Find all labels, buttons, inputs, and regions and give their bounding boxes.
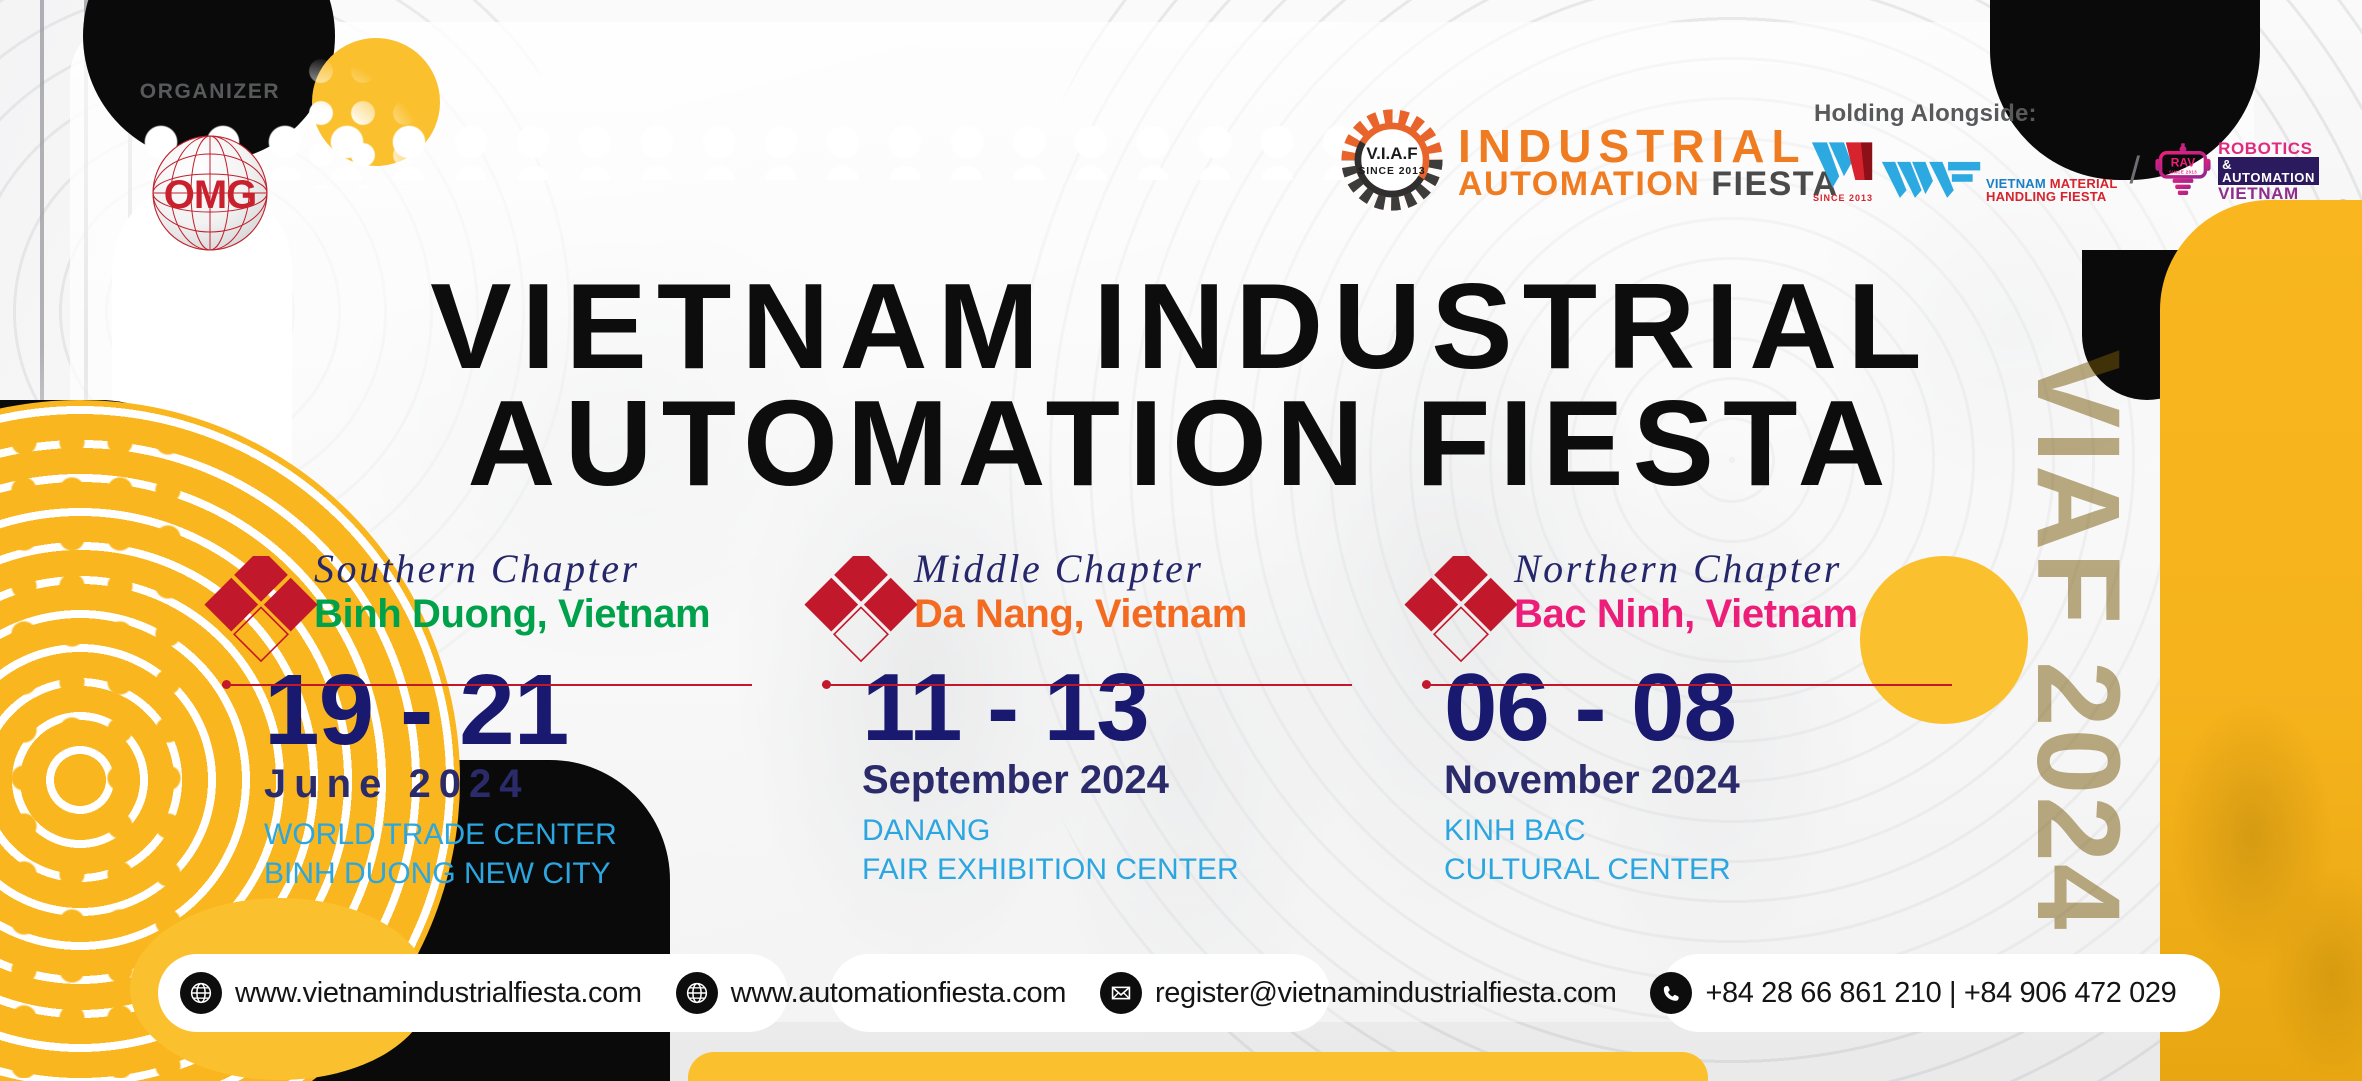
diamond-icon	[802, 556, 920, 674]
chapter-days: 11 - 13	[862, 663, 1390, 753]
chapter-venue-line1: KINH BAC	[1444, 811, 1990, 850]
organizer-block: ORGANIZER	[100, 80, 320, 268]
partner-rav-logo: RAV SINCE 2013 ROBOTICS & AUTOMATION VIE…	[2152, 140, 2319, 202]
mail-icon	[1100, 972, 1142, 1014]
chapter-header: Middle Chapter Da Nang, Vietnam	[790, 548, 1390, 637]
svg-text:SINCE 2013: SINCE 2013	[2169, 169, 2197, 174]
poster-canvas: VIAF 2024 ORGANIZER	[0, 0, 2362, 1081]
chapter-list: Southern Chapter Binh Duong, Vietnam 19 …	[190, 548, 2190, 893]
viaf-word-automation-fiesta: AUTOMATION FIESTA	[1458, 168, 1839, 201]
vmhf-since-label: SINCE 2013	[1810, 193, 1876, 203]
chapter-venue-line2: CULTURAL CENTER	[1444, 850, 1990, 889]
contact-website-1-text: www.vietnamindustrialfiesta.com	[235, 977, 642, 1010]
viaf-logo: V.I.A.F SINCE 2013 INDUSTRIAL AUTOMATION…	[1340, 108, 1839, 217]
chapter-divider-rule	[1422, 684, 1952, 686]
chapter-city: Binh Duong, Vietnam	[314, 592, 790, 637]
organizer-label: ORGANIZER	[100, 80, 320, 104]
contact-website-1[interactable]: www.vietnamindustrialfiesta.com	[180, 972, 642, 1014]
vm-mark-icon: SINCE 2013	[1810, 138, 1876, 203]
holding-alongside-label: Holding Alongside:	[1814, 100, 2170, 128]
svg-text:OMG: OMG	[164, 173, 257, 217]
rav-line1: ROBOTICS	[2218, 140, 2319, 157]
page-title-line1: VIETNAM INDUSTRIAL	[430, 258, 1932, 394]
rav-line3: VIETNAM	[2218, 185, 2319, 202]
gear-badge-line2: SINCE 2013	[1358, 166, 1425, 177]
vmhf-line1: VIETNAM MATERIAL	[1986, 177, 2118, 190]
partner-logos: SINCE 2013 VIETNAM MATERIAL HANDLING FIE…	[1810, 138, 2170, 203]
contact-website-2[interactable]: www.automationfiesta.com	[676, 972, 1066, 1014]
viaf-word-industrial: INDUSTRIAL	[1458, 124, 1839, 168]
contact-phone[interactable]: +84 28 66 861 210 | +84 906 472 029	[1650, 972, 2176, 1014]
holding-alongside-block: Holding Alongside: SINCE 2013	[1810, 100, 2170, 203]
chapter-northern: Northern Chapter Bac Ninh, Vietnam 06 - …	[1390, 548, 1990, 893]
chapter-divider-rule	[222, 684, 752, 686]
chapter-subtitle: Northern Chapter	[1514, 548, 1990, 590]
chapter-month: June 2024	[264, 759, 790, 809]
contact-bar: www.vietnamindustrialfiesta.com www.auto…	[180, 972, 2176, 1014]
vmhf-wordmark: VIETNAM MATERIAL HANDLING FIESTA	[1986, 177, 2118, 204]
viaf-wordmark: INDUSTRIAL AUTOMATION FIESTA	[1458, 124, 1839, 201]
page-title: VIETNAM INDUSTRIAL AUTOMATION FIESTA	[0, 268, 2362, 502]
chapter-southern: Southern Chapter Binh Duong, Vietnam 19 …	[190, 548, 790, 893]
chapter-middle: Middle Chapter Da Nang, Vietnam 11 - 13 …	[790, 548, 1390, 893]
chapter-body: 19 - 21 June 2024 WORLD TRADE CENTER BIN…	[190, 663, 790, 893]
globe-icon	[676, 972, 718, 1014]
yellow-bottom-bar	[688, 1052, 1708, 1081]
rav-robot-icon: RAV SINCE 2013	[2152, 143, 2214, 202]
rav-line2: & AUTOMATION	[2218, 157, 2319, 185]
contact-phone-text: +84 28 66 861 210 | +84 906 472 029	[1705, 977, 2176, 1010]
chapter-body: 11 - 13 September 2024 DANANG FAIR EXHIB…	[790, 663, 1390, 889]
chapter-venue-line1: WORLD TRADE CENTER	[264, 815, 790, 854]
phone-icon	[1650, 972, 1692, 1014]
gear-badge-line1: V.I.A.F	[1366, 144, 1417, 163]
chapter-subtitle: Southern Chapter	[314, 548, 790, 590]
chapter-days: 19 - 21	[264, 663, 790, 757]
diamond-icon	[202, 556, 320, 674]
vmhf-line2: HANDLING FIESTA	[1986, 190, 2118, 203]
contact-email[interactable]: register@vietnamindustrialfiesta.com	[1100, 972, 1617, 1014]
partner-separator: /	[2130, 152, 2141, 190]
viaf-gear-icon: V.I.A.F SINCE 2013	[1340, 108, 1444, 217]
chapter-month: September 2024	[862, 755, 1390, 805]
page-title-line2: AUTOMATION FIESTA	[0, 385, 2362, 502]
chapter-venue-line2: BINH DUONG NEW CITY	[264, 854, 790, 893]
chapter-month: November 2024	[1444, 755, 1990, 805]
globe-icon	[180, 972, 222, 1014]
contact-email-text: register@vietnamindustrialfiesta.com	[1155, 977, 1617, 1010]
chapter-divider-rule	[822, 684, 1352, 686]
chapter-subtitle: Middle Chapter	[914, 548, 1390, 590]
svg-text:RAV: RAV	[2171, 155, 2196, 169]
chapter-days: 06 - 08	[1444, 663, 1990, 753]
vmhf-mark-icon	[1880, 158, 1984, 203]
partner-vmhf-logo: SINCE 2013 VIETNAM MATERIAL HANDLING FIE…	[1810, 138, 2118, 203]
globe-icon: OMG	[135, 118, 285, 268]
diamond-icon	[1402, 556, 1520, 674]
rav-wordmark: ROBOTICS & AUTOMATION VIETNAM	[2218, 140, 2319, 202]
chapter-venue-line2: FAIR EXHIBITION CENTER	[862, 850, 1390, 889]
chapter-header: Southern Chapter Binh Duong, Vietnam	[190, 548, 790, 637]
chapter-city: Bac Ninh, Vietnam	[1514, 592, 1990, 637]
viaf-word-automation: AUTOMATION	[1458, 165, 1700, 203]
chapter-header: Northern Chapter Bac Ninh, Vietnam	[1390, 548, 1990, 637]
chapter-city: Da Nang, Vietnam	[914, 592, 1390, 637]
contact-website-2-text: www.automationfiesta.com	[731, 977, 1066, 1010]
viaf-word-fiesta-sep	[1700, 165, 1711, 203]
chapter-venue-line1: DANANG	[862, 811, 1390, 850]
chapter-body: 06 - 08 November 2024 KINH BAC CULTURAL …	[1390, 663, 1990, 889]
